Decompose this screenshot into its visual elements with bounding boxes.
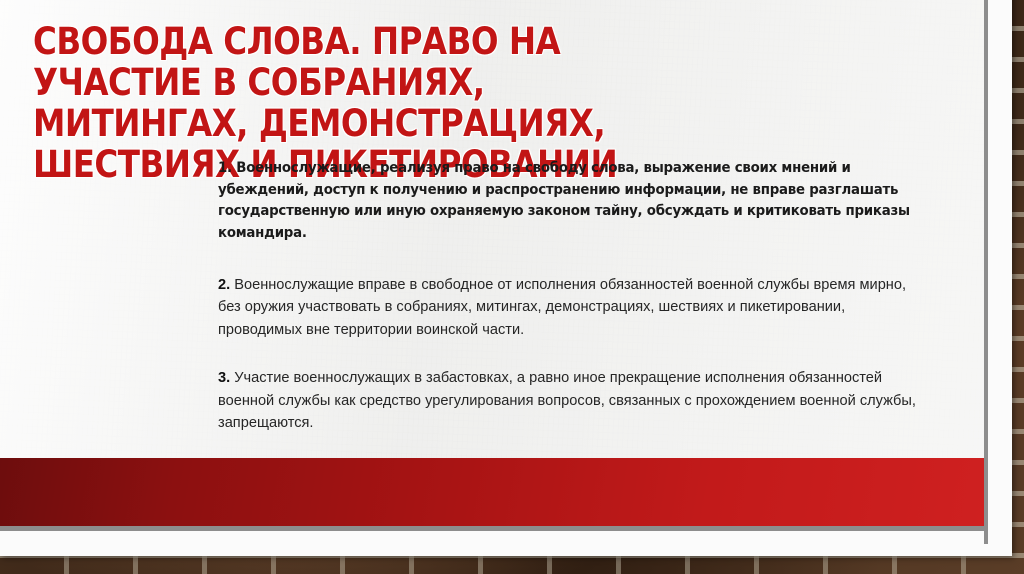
presentation-background: СВОБОДА СЛОВА. ПРАВО НА УЧАСТИЕ В СОБРАН… (0, 0, 1024, 574)
footer-accent-band (0, 458, 984, 526)
frame-margin-bottom (0, 531, 988, 545)
frame-rule-right (984, 0, 988, 544)
paragraph-1: 1. Военнослужащие, реализуя право на сво… (218, 158, 918, 244)
paragraph-2-text: Военнослужащие вправе в свободное от исп… (218, 277, 906, 338)
paragraph-2: 2. Военнослужащие вправе в свободное от … (218, 274, 918, 341)
paragraph-3-text: Участие военнослужащих в забастовках, а … (218, 370, 916, 431)
slide-body: 1. Военнослужащие, реализуя право на сво… (218, 158, 918, 460)
slide-canvas: СВОБОДА СЛОВА. ПРАВО НА УЧАСТИЕ В СОБРАН… (0, 0, 984, 531)
paragraph-3-number: 3. (218, 370, 230, 386)
paragraph-3: 3. Участие военнослужащих в забастовках,… (218, 367, 918, 434)
slide-frame: СВОБОДА СЛОВА. ПРАВО НА УЧАСТИЕ В СОБРАН… (0, 0, 1012, 556)
paragraph-2-number: 2. (218, 277, 230, 293)
